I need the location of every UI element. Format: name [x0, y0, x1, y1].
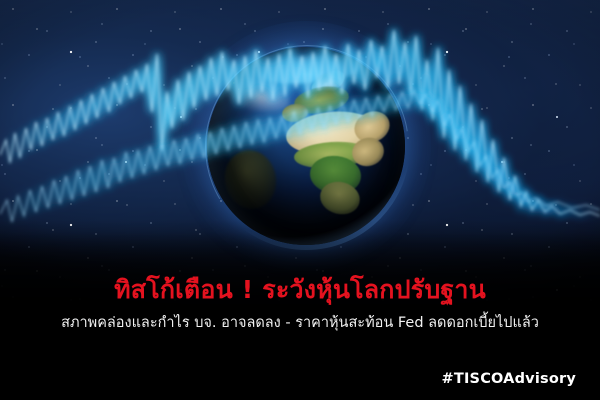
- hashtag-text: #TISCOAdvisory: [442, 371, 576, 387]
- subheadline-text: สภาพคล่องและกำไร บจ. อาจลดลง - ราคาหุ้นส…: [0, 315, 600, 332]
- news-banner-image: ทิสโก้เตือน ! ระวังหุ้นโลกปรับฐาน สภาพคล…: [0, 0, 600, 400]
- headline-text: ทิสโก้เตือน ! ระวังหุ้นโลกปรับฐาน: [0, 276, 600, 305]
- caption-block: ทิสโก้เตือน ! ระวังหุ้นโลกปรับฐาน สภาพคล…: [0, 270, 600, 400]
